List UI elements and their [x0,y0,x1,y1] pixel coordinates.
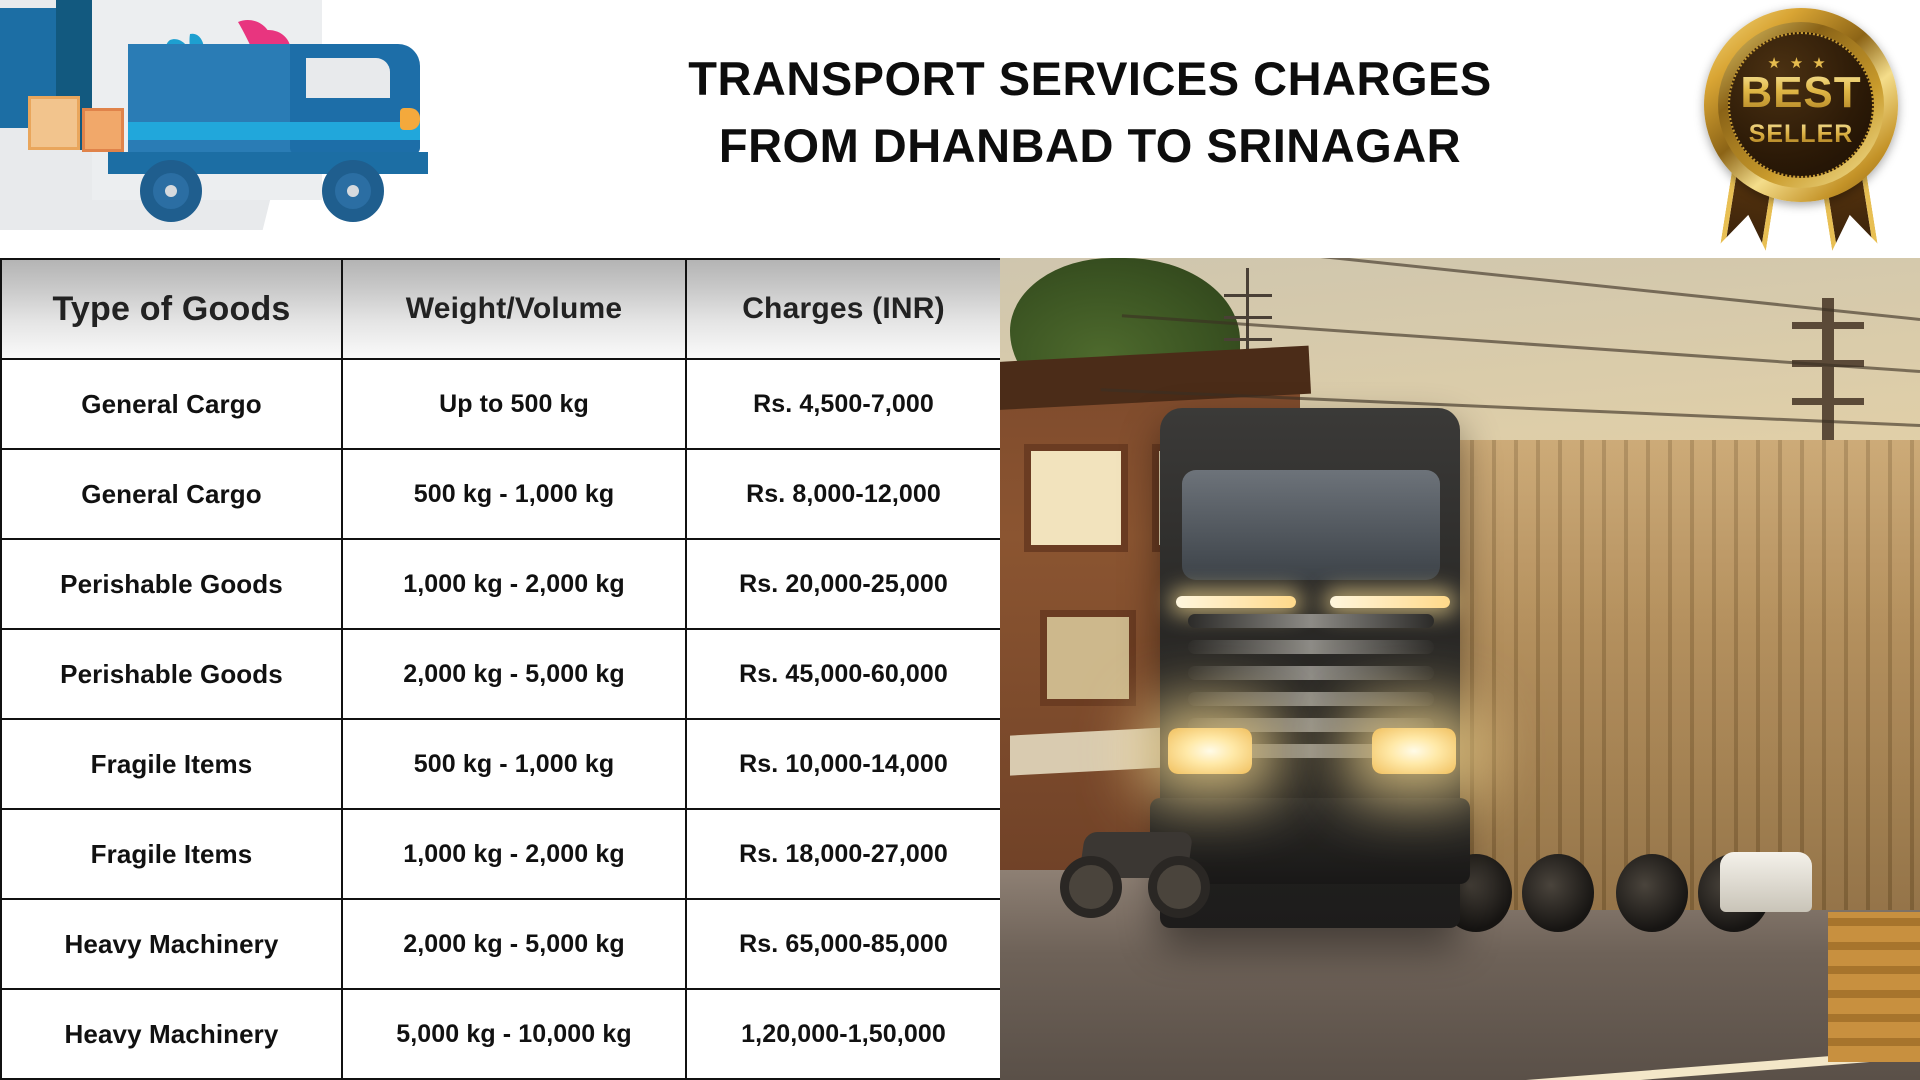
table-row: Heavy Machinery 5,000 kg - 10,000 kg 1,2… [1,989,1001,1079]
photo-window [1024,444,1128,552]
photo-truck-drl-left [1176,596,1296,608]
photo-car [1720,852,1812,912]
cell-weight: 2,000 kg - 5,000 kg [342,629,686,719]
best-seller-badge: ★★★ BEST SELLER [1690,2,1910,254]
cell-goods: Perishable Goods [1,539,342,629]
cell-weight: 2,000 kg - 5,000 kg [342,899,686,989]
truck-headlamp-icon [400,108,420,130]
cell-goods: Fragile Items [1,809,342,899]
page-title: TRANSPORT SERVICES CHARGES FROM DHANBAD … [560,46,1620,179]
cargo-crate-large [28,96,80,150]
poster-body: Type of Goods Weight/Volume Charges (INR… [0,258,1920,1080]
column-header-type-of-goods: Type of Goods [1,259,342,359]
cell-charges: Rs. 10,000-14,000 [686,719,1001,809]
table-row: Fragile Items 1,000 kg - 2,000 kg Rs. 18… [1,809,1001,899]
table-header-row: Type of Goods Weight/Volume Charges (INR… [1,259,1001,359]
truck-wheel-rear [140,160,202,222]
truck-photograph [1000,258,1920,1080]
table-row: Fragile Items 500 kg - 1,000 kg Rs. 10,0… [1,719,1001,809]
truck-window [306,58,390,98]
cell-weight: Up to 500 kg [342,359,686,449]
truck-wheel-front [322,160,384,222]
photo-truck-headlight-left [1168,728,1252,774]
photo-pallet-stack [1828,912,1920,1062]
photo-truck-headlight-right [1372,728,1456,774]
table-row: Perishable Goods 2,000 kg - 5,000 kg Rs.… [1,629,1001,719]
column-header-charges: Charges (INR) [686,259,1001,359]
cell-charges: Rs. 4,500-7,000 [686,359,1001,449]
cell-charges: Rs. 65,000-85,000 [686,899,1001,989]
page-title-line-2: FROM DHANBAD TO SRINAGAR [560,113,1620,180]
photo-truck-trailer [1420,440,1920,910]
photo-truck-windshield [1182,470,1440,580]
cell-goods: General Cargo [1,359,342,449]
cell-weight: 5,000 kg - 10,000 kg [342,989,686,1079]
poster-header: TheTransporter Packers And Movers TRANSP… [0,0,1920,258]
photo-motorcycle [1060,788,1210,918]
cell-charges: Rs. 20,000-25,000 [686,539,1001,629]
cell-charges: Rs. 8,000-12,000 [686,449,1001,539]
photo-truck-drl-right [1330,596,1450,608]
cell-goods: Perishable Goods [1,629,342,719]
table-row: General Cargo 500 kg - 1,000 kg Rs. 8,00… [1,449,1001,539]
page-title-line-1: TRANSPORT SERVICES CHARGES [560,46,1620,113]
truck-illustration: TheTransporter Packers And Movers [0,0,490,258]
photo-window [1040,610,1136,706]
cell-charges: Rs. 18,000-27,000 [686,809,1001,899]
table-row: Perishable Goods 1,000 kg - 2,000 kg Rs.… [1,539,1001,629]
cell-weight: 1,000 kg - 2,000 kg [342,809,686,899]
column-header-weight-volume: Weight/Volume [342,259,686,359]
charges-table: Type of Goods Weight/Volume Charges (INR… [0,258,1002,1080]
cell-goods: Heavy Machinery [1,989,342,1079]
table-row: Heavy Machinery 2,000 kg - 5,000 kg Rs. … [1,899,1001,989]
badge-label-best: BEST [1728,68,1874,118]
table-row: General Cargo Up to 500 kg Rs. 4,500-7,0… [1,359,1001,449]
cell-goods: General Cargo [1,449,342,539]
truck-stripe [128,122,420,140]
table-body: General Cargo Up to 500 kg Rs. 4,500-7,0… [1,359,1001,1079]
cell-goods: Heavy Machinery [1,899,342,989]
poster-root: TheTransporter Packers And Movers TRANSP… [0,0,1920,1080]
cell-goods: Fragile Items [1,719,342,809]
cell-charges: 1,20,000-1,50,000 [686,989,1001,1079]
cargo-crate-small [82,108,124,152]
badge-label-seller: SELLER [1728,120,1874,149]
cell-weight: 500 kg - 1,000 kg [342,719,686,809]
cell-charges: Rs. 45,000-60,000 [686,629,1001,719]
cell-weight: 1,000 kg - 2,000 kg [342,539,686,629]
cell-weight: 500 kg - 1,000 kg [342,449,686,539]
